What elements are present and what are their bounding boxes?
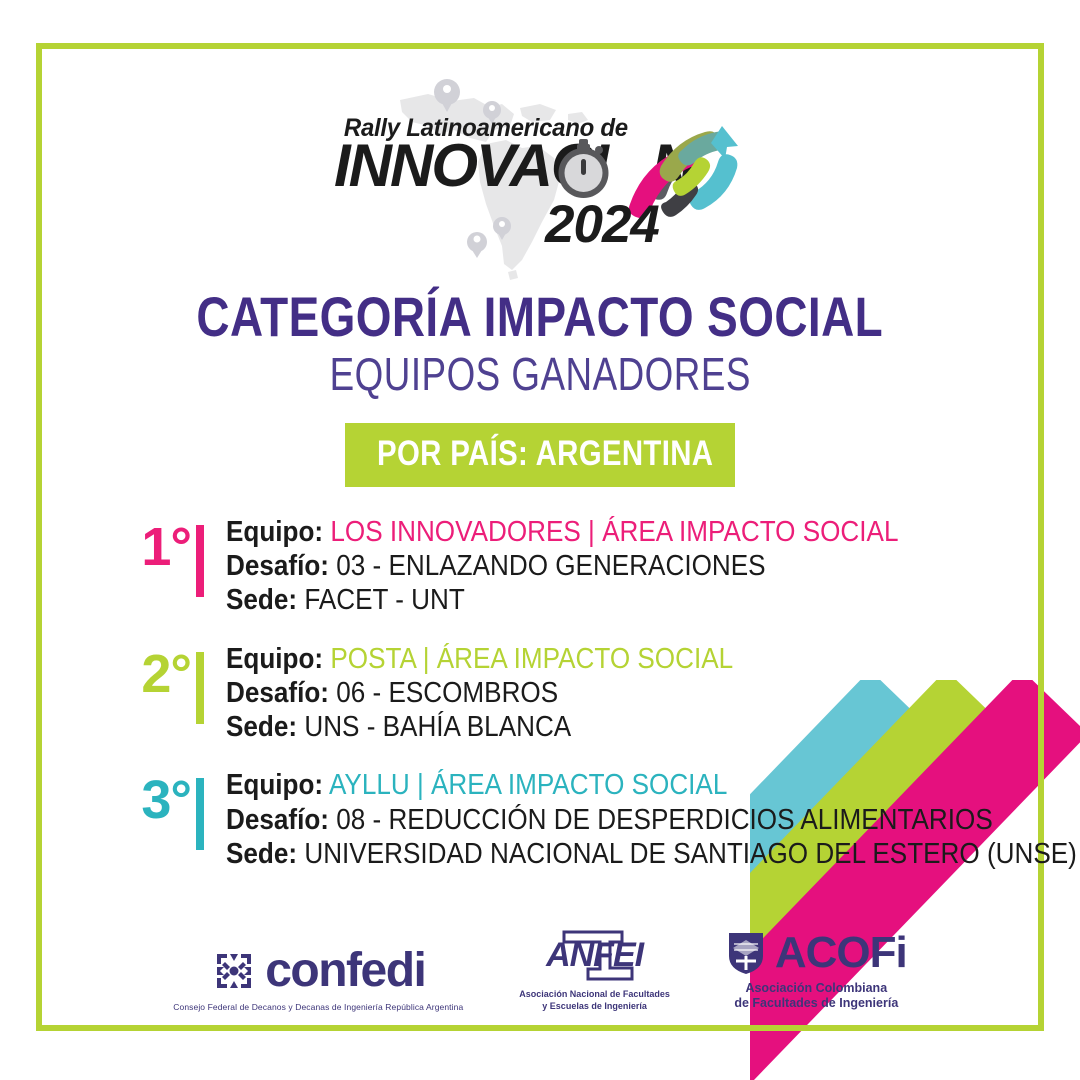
winner-challenge-line-1: Desafío: 03 - ENLAZANDO GENERACIONES bbox=[226, 549, 898, 583]
anfei-logo: ANFEI Asociación Nacional de Facultades … bbox=[519, 926, 670, 1012]
winner-details-1: Equipo: LOS INNOVADORES | ÁREA IMPACTO S… bbox=[204, 513, 973, 618]
winner-venue-1: FACET - UNT bbox=[304, 584, 464, 616]
rank-number-1: 1° bbox=[141, 523, 191, 573]
rank-badge-2: 2° bbox=[112, 640, 204, 724]
winner-venue-line-2: Sede: UNS - BAHÍA BLANCA bbox=[226, 710, 733, 744]
winner-challenge-line-2: Desafío: 06 - ESCOMBROS bbox=[226, 676, 733, 710]
sede-label: Sede: bbox=[226, 711, 297, 743]
confedi-tagline: Consejo Federal de Decanos y Decanas de … bbox=[173, 1002, 463, 1012]
winner-venue-line-1: Sede: FACET - UNT bbox=[226, 583, 898, 617]
event-logo: Rally Latinoamericano de INNOVACION bbox=[330, 92, 750, 262]
winner-team-line-3: Equipo: AYLLU | ÁREA IMPACTO SOCIAL bbox=[226, 768, 1077, 802]
sede-label: Sede: bbox=[226, 838, 297, 870]
winner-team-name-3: AYLLU | ÁREA IMPACTO SOCIAL bbox=[329, 769, 727, 801]
winner-team-line-1: Equipo: LOS INNOVADORES | ÁREA IMPACTO S… bbox=[226, 515, 898, 549]
logo-artwork bbox=[330, 92, 750, 262]
desafio-label: Desafío: bbox=[226, 804, 329, 836]
acofi-tagline: Asociación Colombiana de Facultades de I… bbox=[734, 981, 898, 1012]
rank-bar-3 bbox=[196, 778, 204, 850]
rank-number-2: 2° bbox=[141, 650, 191, 700]
winner-row-1: 1° Equipo: LOS INNOVADORES | ÁREA IMPACT… bbox=[112, 513, 980, 618]
logo-year-text: 2024 bbox=[545, 198, 659, 251]
winner-details-2: Equipo: POSTA | ÁREA IMPACTO SOCIAL Desa… bbox=[204, 640, 789, 745]
winner-venue-line-3: Sede: UNIVERSIDAD NACIONAL DE SANTIAGO D… bbox=[226, 837, 1077, 871]
country-banner-label: POR PAÍS: ARGENTINA bbox=[377, 434, 713, 474]
acofi-wordmark: ACOFi bbox=[775, 931, 907, 975]
page-subtitle: EQUIPOS GANADORES bbox=[329, 347, 750, 401]
winner-challenge-1: 03 - ENLAZANDO GENERACIONES bbox=[336, 550, 765, 582]
country-banner: POR PAÍS: ARGENTINA bbox=[345, 423, 735, 487]
poster-content: Rally Latinoamericano de INNOVACION bbox=[0, 0, 1080, 1080]
winner-team-line-2: Equipo: POSTA | ÁREA IMPACTO SOCIAL bbox=[226, 642, 733, 676]
confedi-wordmark: confedi bbox=[265, 947, 425, 995]
acofi-shield-icon bbox=[726, 930, 766, 976]
winner-details-3: Equipo: AYLLU | ÁREA IMPACTO SOCIAL Desa… bbox=[204, 766, 1080, 871]
rank-bar-1 bbox=[196, 525, 204, 597]
rank-bar-2 bbox=[196, 652, 204, 724]
sede-label: Sede: bbox=[226, 584, 297, 616]
desafio-label: Desafío: bbox=[226, 550, 329, 582]
rank-badge-1: 1° bbox=[112, 513, 204, 597]
rank-number-3: 3° bbox=[141, 776, 191, 826]
winner-challenge-3: 08 - REDUCCIÓN DE DESPERDICIOS ALIMENTAR… bbox=[336, 804, 992, 836]
acofi-tagline-line2: de Facultades de Ingeniería bbox=[734, 996, 898, 1012]
acofi-logo: ACOFi Asociación Colombiana de Facultade… bbox=[726, 930, 907, 1012]
anfei-tagline: Asociación Nacional de Facultades y Escu… bbox=[519, 988, 670, 1012]
stopwatch-icon bbox=[559, 139, 609, 198]
winner-venue-3: UNIVERSIDAD NACIONAL DE SANTIAGO DEL EST… bbox=[304, 838, 1077, 870]
winner-team-name-2: POSTA | ÁREA IMPACTO SOCIAL bbox=[330, 643, 733, 675]
desafio-label: Desafío: bbox=[226, 677, 329, 709]
winner-team-name-1: LOS INNOVADORES | ÁREA IMPACTO SOCIAL bbox=[330, 516, 898, 548]
winners-list: 1° Equipo: LOS INNOVADORES | ÁREA IMPACT… bbox=[100, 513, 980, 893]
winner-row-2: 2° Equipo: POSTA | ÁREA IMPACTO SOCIAL D… bbox=[112, 640, 980, 745]
anfei-wordmark: ANFEI bbox=[530, 938, 660, 972]
acofi-tagline-line1: Asociación Colombiana bbox=[734, 981, 898, 997]
winner-challenge-line-3: Desafío: 08 - REDUCCIÓN DE DESPERDICIOS … bbox=[226, 803, 1077, 837]
page-title: CATEGORÍA IMPACTO SOCIAL bbox=[197, 284, 884, 349]
winner-challenge-2: 06 - ESCOMBROS bbox=[336, 677, 558, 709]
confedi-logo: confedi Consejo Federal de Decanos y Dec… bbox=[173, 947, 463, 1012]
confedi-starburst-icon bbox=[211, 948, 257, 994]
equipo-label: Equipo: bbox=[226, 769, 323, 801]
equipo-label: Equipo: bbox=[226, 643, 323, 675]
sponsor-logos: confedi Consejo Federal de Decanos y Dec… bbox=[0, 926, 1080, 1012]
anfei-tagline-line1: Asociación Nacional de Facultades bbox=[519, 988, 670, 1000]
winner-venue-2: UNS - BAHÍA BLANCA bbox=[304, 711, 571, 743]
anfei-tagline-line2: y Escuelas de Ingeniería bbox=[519, 1000, 670, 1012]
winner-row-3: 3° Equipo: AYLLU | ÁREA IMPACTO SOCIAL D… bbox=[112, 766, 980, 871]
rank-badge-3: 3° bbox=[112, 766, 204, 850]
equipo-label: Equipo: bbox=[226, 516, 323, 548]
